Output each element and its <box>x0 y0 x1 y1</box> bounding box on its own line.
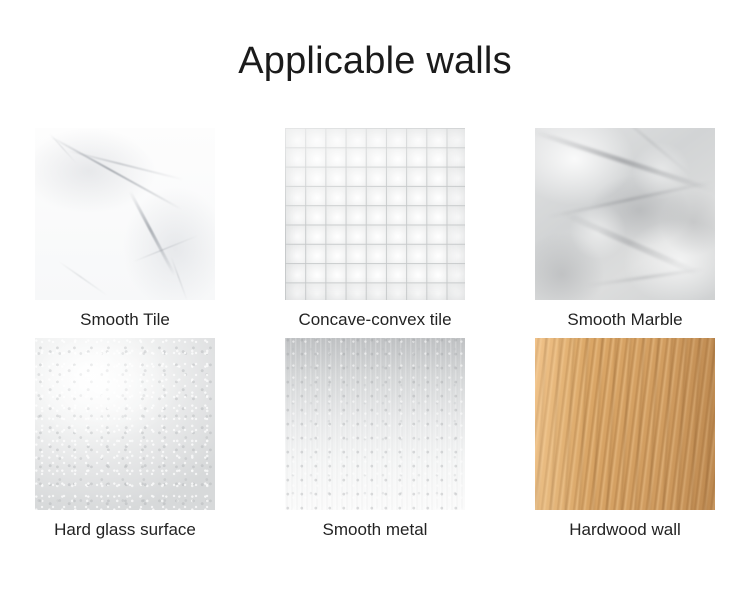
swatch-cell-concave-convex-tile: Concave-convex tile <box>250 128 500 330</box>
metal-speckle-overlay <box>285 338 465 510</box>
marble-vein <box>170 256 188 300</box>
swatch-caption: Hardwood wall <box>500 520 750 540</box>
swatch-row-1: Smooth Tile Concave-convex tile Smooth M… <box>0 128 750 338</box>
smooth-metal-image <box>285 338 465 510</box>
hard-glass-surface-image <box>35 338 215 510</box>
smooth-marble-image <box>535 128 715 300</box>
applicable-walls-infographic: Applicable walls Smooth Tile <box>0 0 750 594</box>
swatch-cell-smooth-metal: Smooth metal <box>250 338 500 540</box>
concave-convex-tile-image <box>285 128 465 300</box>
smooth-tile-image <box>35 128 215 300</box>
marble-vein <box>58 261 108 296</box>
swatch-grid: Smooth Tile Concave-convex tile Smooth M… <box>0 128 750 548</box>
swatch-caption: Smooth metal <box>250 520 500 540</box>
page-title: Applicable walls <box>0 40 750 83</box>
swatch-caption: Smooth Tile <box>0 310 250 330</box>
swatch-cell-smooth-marble: Smooth Marble <box>500 128 750 330</box>
marble-vein <box>67 150 184 181</box>
swatch-cell-hard-glass-surface: Hard glass surface <box>0 338 250 540</box>
swatch-cell-hardwood-wall: Hardwood wall <box>500 338 750 540</box>
wood-shading-overlay <box>535 338 715 510</box>
swatch-caption: Smooth Marble <box>500 310 750 330</box>
swatch-row-2: Hard glass surface Smooth metal Hardwood… <box>0 338 750 548</box>
swatch-cell-smooth-tile: Smooth Tile <box>0 128 250 330</box>
glass-glow-overlay <box>35 338 215 510</box>
swatch-caption: Hard glass surface <box>0 520 250 540</box>
tile-sheen-overlay <box>285 128 465 300</box>
hardwood-wall-image <box>535 338 715 510</box>
swatch-caption: Concave-convex tile <box>250 310 500 330</box>
